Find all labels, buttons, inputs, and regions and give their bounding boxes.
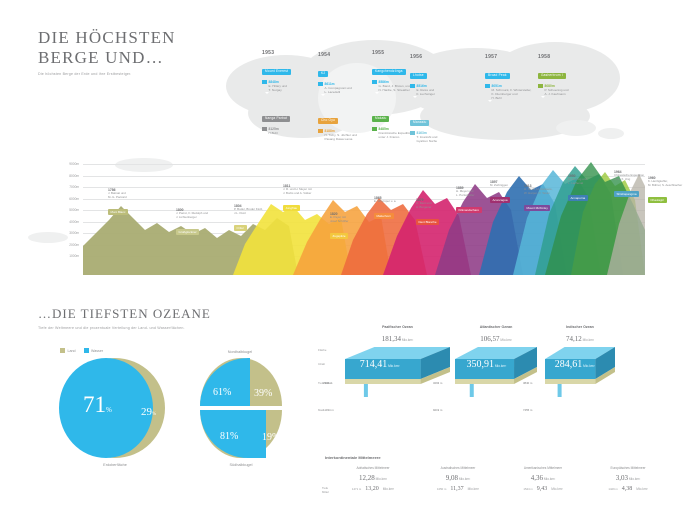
timeline-climbers: H. Tichy, S. Jöchler und Pasang Dawa Lam… bbox=[325, 133, 357, 141]
timeline-peak-pill[interactable]: Gasherbrum I bbox=[538, 73, 566, 80]
timeline-climbers: T. Imanishi und Gyalzen Norbu bbox=[417, 135, 438, 143]
med-area-unit: Mio.km² bbox=[458, 477, 470, 481]
med-area: 9,08 Mio.km² bbox=[415, 474, 501, 482]
ocean-panel[interactable]: Atlantischer Ozean106,57 Mio.km²350,91 M… bbox=[455, 325, 537, 401]
med-column-header: Europäisches Mittelmeer bbox=[585, 466, 671, 470]
ocean-name: Indischer Ozean bbox=[545, 325, 615, 329]
pie-water-value: 71% bbox=[83, 392, 112, 418]
pie-north-half: 61% 39% bbox=[200, 358, 282, 406]
ocean-volume-value: 714,41 bbox=[360, 359, 388, 370]
pie-north-water-number: 61 bbox=[213, 387, 223, 398]
timeline-column: 1953Mount Everest8848mE. Hillary und T. … bbox=[262, 50, 318, 139]
pie-south-land-number: 19 bbox=[262, 432, 272, 443]
ocean-axis-label: Fläche bbox=[318, 348, 326, 352]
peak-name-chip[interactable]: Aconcagua bbox=[490, 197, 510, 203]
pie-chart-global: 71% 29% bbox=[65, 358, 165, 458]
timeline-year: 1956 bbox=[410, 54, 466, 60]
ocean-volume: 714,41 Mio.km³ bbox=[360, 359, 400, 370]
ocean-area-unit: Mio.km² bbox=[401, 338, 413, 342]
med-column-header: Australisches Mittelmeer bbox=[415, 466, 501, 470]
ocean-volume-value: 350,91 bbox=[466, 359, 494, 370]
ocean-area: 74,12 Mio.km² bbox=[545, 335, 615, 343]
pie-south-water-value: 81% bbox=[220, 426, 238, 444]
cloud-shape-8 bbox=[556, 120, 596, 136]
med-volume-value: 9,43 bbox=[537, 486, 548, 492]
legend-swatch-land bbox=[60, 348, 65, 353]
flag-icon bbox=[410, 84, 415, 88]
timeline-climbers: E. Hillary und T. Norgay bbox=[269, 84, 287, 92]
pie-legend: Land Wasser bbox=[60, 348, 103, 353]
peak-climbers: J. Parrot, F. Rudolph und J. Lichtenberg… bbox=[176, 212, 228, 220]
flag-icon bbox=[410, 131, 415, 135]
pie-north-water-value: 61% bbox=[213, 382, 231, 400]
legend-label-land: Land bbox=[68, 349, 76, 353]
flag-icon bbox=[372, 127, 377, 131]
ocean-slab: 350,91 Mio.km³ bbox=[455, 345, 537, 401]
med-volume-unit: Mio.km³ bbox=[383, 487, 394, 491]
pie-north-land-number: 39 bbox=[254, 388, 264, 399]
peak-climbers: M. Herzog und L. Lachenal bbox=[568, 178, 620, 186]
legend-swatch-wasser bbox=[84, 348, 89, 353]
peak-annotation[interactable]: 1811J. R. und H. Meyer mit J. Bortis und… bbox=[283, 184, 335, 214]
legend-item-wasser: Wasser bbox=[84, 348, 104, 353]
ocean-volume: 350,91 Mio.km³ bbox=[466, 359, 506, 370]
peak-name-chip[interactable]: Ortler bbox=[234, 225, 247, 231]
peak-climbers: P. Buder, Bruder Klotz, J.L. Klotz bbox=[234, 208, 286, 216]
timeline-column: 1956Lhotse8516mE. Reiss und F. Luchsinge… bbox=[410, 54, 466, 148]
ocean-area-value: 106,57 bbox=[480, 335, 499, 343]
timeline-entry[interactable]: Broad Peak8051mM. Schmuck, F. Winterstel… bbox=[485, 63, 541, 100]
timeline-peak-pill[interactable]: Mount Everest bbox=[262, 69, 291, 76]
timeline-year: 1954 bbox=[318, 52, 374, 58]
timeline-climbers: E. Reiss und F. Luchsinger bbox=[417, 88, 435, 96]
ocean-volume-unit: Mio.km³ bbox=[494, 364, 506, 368]
legend-item-land: Land bbox=[60, 348, 76, 353]
med-depth: 1429 m bbox=[608, 487, 617, 491]
oceans-subtitle: Tiefe der Weltmeere und die prozentuale … bbox=[38, 326, 211, 330]
ocean-panel[interactable]: Indischer Ozean74,12 Mio.km²284,61 Mio.k… bbox=[545, 325, 615, 401]
page-title: DIE HÖCHSTEN BERGE UND… bbox=[38, 28, 176, 68]
med-area-value: 9,08 bbox=[446, 474, 458, 482]
med-area: 4,36 Mio.km² bbox=[500, 474, 586, 482]
flag-icon bbox=[485, 84, 490, 88]
med-table-column[interactable]: Amerikanisches Mittelmeer4,36 Mio.km²154… bbox=[500, 466, 586, 492]
flag-icon bbox=[538, 84, 543, 88]
peak-annotation[interactable]: 1950M. Herzog und L. LachenalAnnapurna bbox=[568, 174, 620, 204]
timeline-climbers: M. Schmuck, F. Wintersteller, K. Diember… bbox=[492, 88, 532, 101]
timeline-column: 1958Gasherbrum I8080mP. Schoening und A.… bbox=[538, 54, 594, 100]
timeline-entry[interactable]: Lhotse8516mE. Reiss und F. Luchsinger bbox=[410, 63, 466, 96]
peak-name-chip[interactable]: Annapurna bbox=[568, 195, 588, 201]
peak-annotation[interactable]: 1960K. Herrligkoffer, M. Bührel, S. Aesc… bbox=[648, 176, 690, 206]
ocean-max-depth: 7455 m bbox=[523, 408, 532, 412]
timeline-peak-pill[interactable]: Kangchendzönga bbox=[372, 69, 406, 76]
timeline-entry[interactable]: Mount Everest8848mE. Hillary und T. Norg… bbox=[262, 59, 318, 92]
ocean-volume-unit: Mio.km³ bbox=[582, 364, 594, 368]
timeline-year: 1958 bbox=[538, 54, 594, 60]
peak-name-chip[interactable]: Dent Blanche bbox=[416, 219, 439, 225]
ocean-area: 181,34 Mio.km² bbox=[345, 335, 450, 343]
flag-icon bbox=[262, 127, 267, 131]
pie-north-land-pct: % bbox=[264, 388, 272, 399]
timeline-climbers: G. Band, J. Brown, und N. Hardie, S. Str… bbox=[379, 84, 411, 92]
pie-water-pct: % bbox=[106, 406, 112, 414]
timeline-peak-pill[interactable]: Broad Peak bbox=[485, 73, 510, 80]
ocean-volume-value: 284,61 bbox=[555, 359, 583, 370]
med-area-value: 4,36 bbox=[531, 474, 543, 482]
y-axis-tick: 1000m bbox=[45, 254, 79, 258]
med-volume-value: 11,37 bbox=[450, 486, 463, 492]
peak-name-chip[interactable]: Matterhorn bbox=[374, 213, 394, 219]
timeline-peak-pill[interactable]: Cho Oyu bbox=[318, 118, 338, 125]
peak-name-chip[interactable]: Mont Blanc bbox=[108, 209, 128, 215]
pie-north-caption: Nordhalbkugel bbox=[200, 350, 280, 354]
med-volume-unit: Mio.km³ bbox=[551, 487, 562, 491]
timeline-column: 1954K28611mA. Compagnoni und L. Lacedell… bbox=[318, 52, 374, 146]
ocean-panel[interactable]: Pazifischer Ozean181,34 Mio.km²714,41 Mi… bbox=[345, 325, 450, 401]
pie-land-pct: % bbox=[152, 412, 156, 417]
mountains-title-block: DIE HÖCHSTEN BERGE UND… Die höchsten Ber… bbox=[38, 28, 176, 76]
ocean-mean-depth: 3293 m bbox=[433, 381, 442, 385]
ocean-area-value: 74,12 bbox=[566, 335, 582, 343]
peak-annotation[interactable]: 1786J. Balmat und M.-G. PaccardMont Blan… bbox=[108, 188, 160, 218]
med-volume-unit: Mio.km³ bbox=[636, 487, 647, 491]
infographic-canvas: DIE HÖCHSTEN BERGE UND… Die höchsten Ber… bbox=[0, 0, 690, 524]
legend-label-wasser: Wasser bbox=[91, 349, 103, 353]
timeline-peak-pill[interactable]: K2 bbox=[318, 71, 328, 78]
med-column-header: Amerikanisches Mittelmeer bbox=[500, 466, 586, 470]
peak-climbers: K. Herrligkoffer, M. Bührel, S. Aeschbac… bbox=[648, 180, 690, 188]
ocean-name: Pazifischer Ozean bbox=[345, 325, 450, 329]
pie-water-number: 71 bbox=[83, 392, 106, 417]
pie-north-water-pct: % bbox=[223, 387, 231, 398]
med-area-value: 12,28 bbox=[359, 474, 375, 482]
med-area-unit: Mio.km² bbox=[543, 477, 555, 481]
timeline-peak-pill[interactable]: Lhotse bbox=[410, 73, 427, 80]
pie-global-caption: Erdoberfläche bbox=[75, 463, 155, 467]
med-value-row: 1544 m9,43Mio.km³ bbox=[500, 486, 586, 492]
med-table-title: Interkontinentale Mittelmeere bbox=[325, 455, 381, 460]
ocean-volume: 284,61 Mio.km³ bbox=[555, 359, 595, 370]
pie-north-land-value: 39% bbox=[254, 383, 272, 401]
med-area-unit: Mio.km² bbox=[375, 477, 387, 481]
med-depth: 1544 m bbox=[523, 487, 532, 491]
y-axis-tick: 3000m bbox=[45, 231, 79, 235]
flag-icon bbox=[262, 80, 267, 84]
ocean-area: 106,57 Mio.km² bbox=[455, 335, 537, 343]
y-axis-tick: 2000m bbox=[45, 243, 79, 247]
y-axis-tick: 9000m bbox=[45, 162, 79, 166]
peak-name-chip[interactable]: Zugspitze bbox=[330, 233, 348, 239]
timeline-entry[interactable]: Gasherbrum I8080mP. Schoening und A. J. … bbox=[538, 63, 594, 96]
ocean-area-value: 181,34 bbox=[382, 335, 401, 343]
timeline-peak-pill[interactable]: Makalu bbox=[372, 116, 389, 123]
timeline-climbers: H.Buhl bbox=[269, 131, 279, 135]
pie-south-caption: Südhalbkugel bbox=[200, 463, 282, 467]
y-axis-tick: 8000m bbox=[45, 174, 79, 178]
pie-south-water-pct: % bbox=[230, 431, 238, 442]
peak-name-chip[interactable]: Dhaulagiri bbox=[648, 197, 667, 203]
ocean-mean-depth: 3940 m bbox=[323, 381, 332, 385]
med-table-column[interactable]: Europäisches Mittelmeer3,03 Mio.km²1429 … bbox=[585, 466, 671, 492]
med-area-value: 3,03 bbox=[616, 474, 628, 482]
timeline-entry[interactable]: Nanga Parbat8125mH.Buhl bbox=[262, 106, 318, 135]
peak-name-chip[interactable]: Shishapangma bbox=[614, 191, 639, 197]
med-depth: 1050 m bbox=[437, 487, 446, 491]
timeline-entry[interactable]: Manaslu8163mT. Imanishi und Gyalzen Norb… bbox=[410, 110, 466, 143]
med-table-column[interactable]: Australisches Mittelmeer9,08 Mio.km²1050… bbox=[415, 466, 501, 492]
med-value-row: 1050 m11,37Mio.km³ bbox=[415, 486, 501, 492]
ocean-name: Atlantischer Ozean bbox=[455, 325, 537, 329]
peak-name-chip[interactable]: Jungfrau bbox=[283, 205, 300, 211]
med-value-row: 1429 m4,38Mio.km³ bbox=[585, 486, 671, 492]
flag-icon bbox=[318, 129, 323, 133]
flag-icon bbox=[372, 80, 377, 84]
peak-climbers: J. R. und H. Meyer mit J. Bortis und A. … bbox=[283, 188, 335, 196]
ocean-volume-unit: Mio.km³ bbox=[387, 364, 399, 368]
ocean-slab: 284,61 Mio.km³ bbox=[545, 345, 615, 401]
timeline-climbers: Französische Expedition unter J. Franco bbox=[379, 131, 413, 139]
y-axis-tick: 4000m bbox=[45, 220, 79, 224]
ocean-max-depth: 11034 m bbox=[323, 408, 334, 412]
pie-chart-hemispheres: 61% 39% 81% 19% bbox=[200, 358, 282, 458]
timeline-peak-pill[interactable]: Nanga Parbat bbox=[262, 116, 290, 123]
med-area-unit: Mio.km² bbox=[628, 477, 640, 481]
pie-land-value: 29% bbox=[141, 402, 156, 420]
ocean-area-unit: Mio.km² bbox=[500, 338, 512, 342]
ocean-slab: 714,41 Mio.km³ bbox=[345, 345, 450, 401]
med-volume-value: 4,38 bbox=[622, 486, 633, 492]
oceans-title: …DIE TIEFSTEN OZEANE bbox=[38, 306, 211, 322]
med-area: 12,28 Mio.km² bbox=[330, 474, 416, 482]
ocean-axis-label: Inhalt bbox=[318, 362, 325, 366]
mountain-chart: 9000m8000m7000m6000m5000m4000m3000m2000m… bbox=[45, 160, 645, 275]
peak-name-chip[interactable]: Mount McKinley bbox=[524, 205, 550, 211]
med-depth: 1471 m bbox=[352, 487, 361, 491]
med-column-header: Adriatisches Mittelmeer bbox=[330, 466, 416, 470]
pie-land-number: 29 bbox=[141, 406, 152, 418]
med-table-column[interactable]: Adriatisches Mittelmeer12,28 Mio.km²1471… bbox=[330, 466, 416, 492]
ocean-max-depth: 9219 m bbox=[433, 408, 442, 412]
pie-south-half: 81% 19% bbox=[200, 410, 282, 458]
peak-annotation[interactable]: 1804P. Buder, Bruder Klotz, J.L. KlotzOr… bbox=[234, 204, 286, 234]
y-axis-tick: 5000m bbox=[45, 208, 79, 212]
timeline-year: 1957 bbox=[485, 54, 541, 60]
timeline-entry[interactable]: K28611mA. Compagnoni und L. Lacedelli bbox=[318, 61, 374, 94]
timeline-year: 1953 bbox=[262, 50, 318, 56]
oceans-title-block: …DIE TIEFSTEN OZEANE Tiefe der Weltmeere… bbox=[38, 306, 211, 330]
pie-south-water-number: 81 bbox=[220, 431, 230, 442]
med-value-row: 1471 m13,20Mio.km³ bbox=[330, 486, 416, 492]
y-axis-tick: 7000m bbox=[45, 185, 79, 189]
med-volume-value: 13,20 bbox=[365, 486, 379, 492]
pie-south-land-pct: % bbox=[272, 432, 280, 443]
med-area: 3,03 Mio.km² bbox=[585, 474, 671, 482]
peak-name-chip[interactable]: Großglockner bbox=[176, 229, 199, 235]
cloud-shape-9 bbox=[598, 128, 624, 139]
peak-climbers: J. Balmat und M.-G. Paccard bbox=[108, 192, 160, 200]
peak-annotation[interactable]: 1800J. Parrot, F. Rudolph und J. Lichten… bbox=[176, 208, 228, 238]
timeline-column: 1957Broad Peak8051mM. Schmuck, F. Winter… bbox=[485, 54, 541, 104]
timeline-peak-pill[interactable]: Manaslu bbox=[410, 120, 429, 127]
timeline-entry[interactable]: Cho Oyu8188mH. Tichy, S. Jöchler und Pas… bbox=[318, 108, 374, 141]
y-axis-tick: 6000m bbox=[45, 197, 79, 201]
peak-name-chip[interactable]: Kilimandscharo bbox=[456, 207, 482, 213]
ocean-mean-depth: 3840 m bbox=[523, 381, 532, 385]
med-table-side-label: Tiefe Mittel bbox=[322, 487, 329, 494]
ocean-area-unit: Mio.km² bbox=[582, 338, 594, 342]
timeline-climbers: P. Schoening und A. J. Kaufmann bbox=[545, 88, 569, 96]
flag-icon bbox=[318, 82, 323, 86]
med-volume-unit: Mio.km³ bbox=[468, 487, 479, 491]
page-subtitle: Die höchsten Berge der Erde und ihre Ers… bbox=[38, 72, 176, 76]
timeline-climbers: A. Compagnoni und L. Lacedelli bbox=[325, 86, 352, 94]
pie-south-land-value: 19% bbox=[262, 427, 280, 445]
